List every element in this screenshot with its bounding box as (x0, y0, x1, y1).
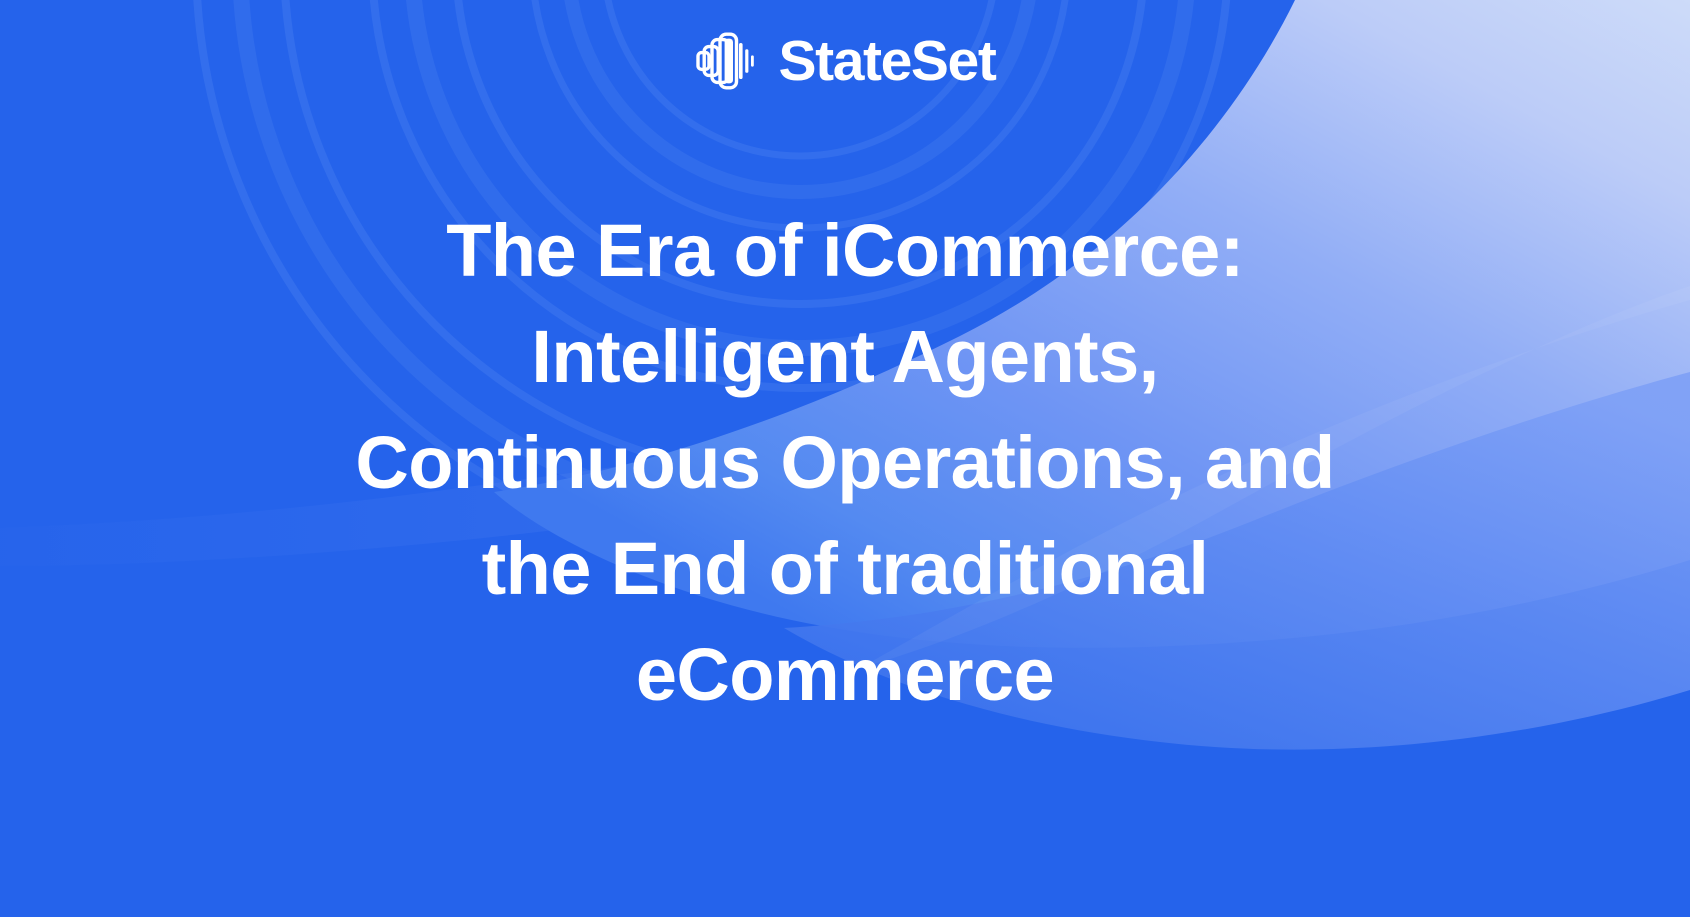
brand-wordmark: StateSet (779, 33, 996, 90)
hero-title-line: eCommerce (215, 622, 1475, 728)
hero-title-line: Continuous Operations, and (215, 410, 1475, 516)
hero-title-container: The Era of iCommerce: Intelligent Agents… (0, 198, 1690, 728)
hero-title-line: the End of traditional (215, 516, 1475, 622)
hero-title: The Era of iCommerce: Intelligent Agents… (215, 198, 1475, 728)
hero-title-line: Intelligent Agents, (215, 304, 1475, 410)
brand-lockup[interactable]: StateSet (0, 24, 1690, 98)
hero-title-line: The Era of iCommerce: (215, 198, 1475, 304)
hero-banner: StateSet The Era of iCommerce: Intellige… (0, 0, 1690, 917)
stateset-logo-icon (695, 30, 757, 92)
